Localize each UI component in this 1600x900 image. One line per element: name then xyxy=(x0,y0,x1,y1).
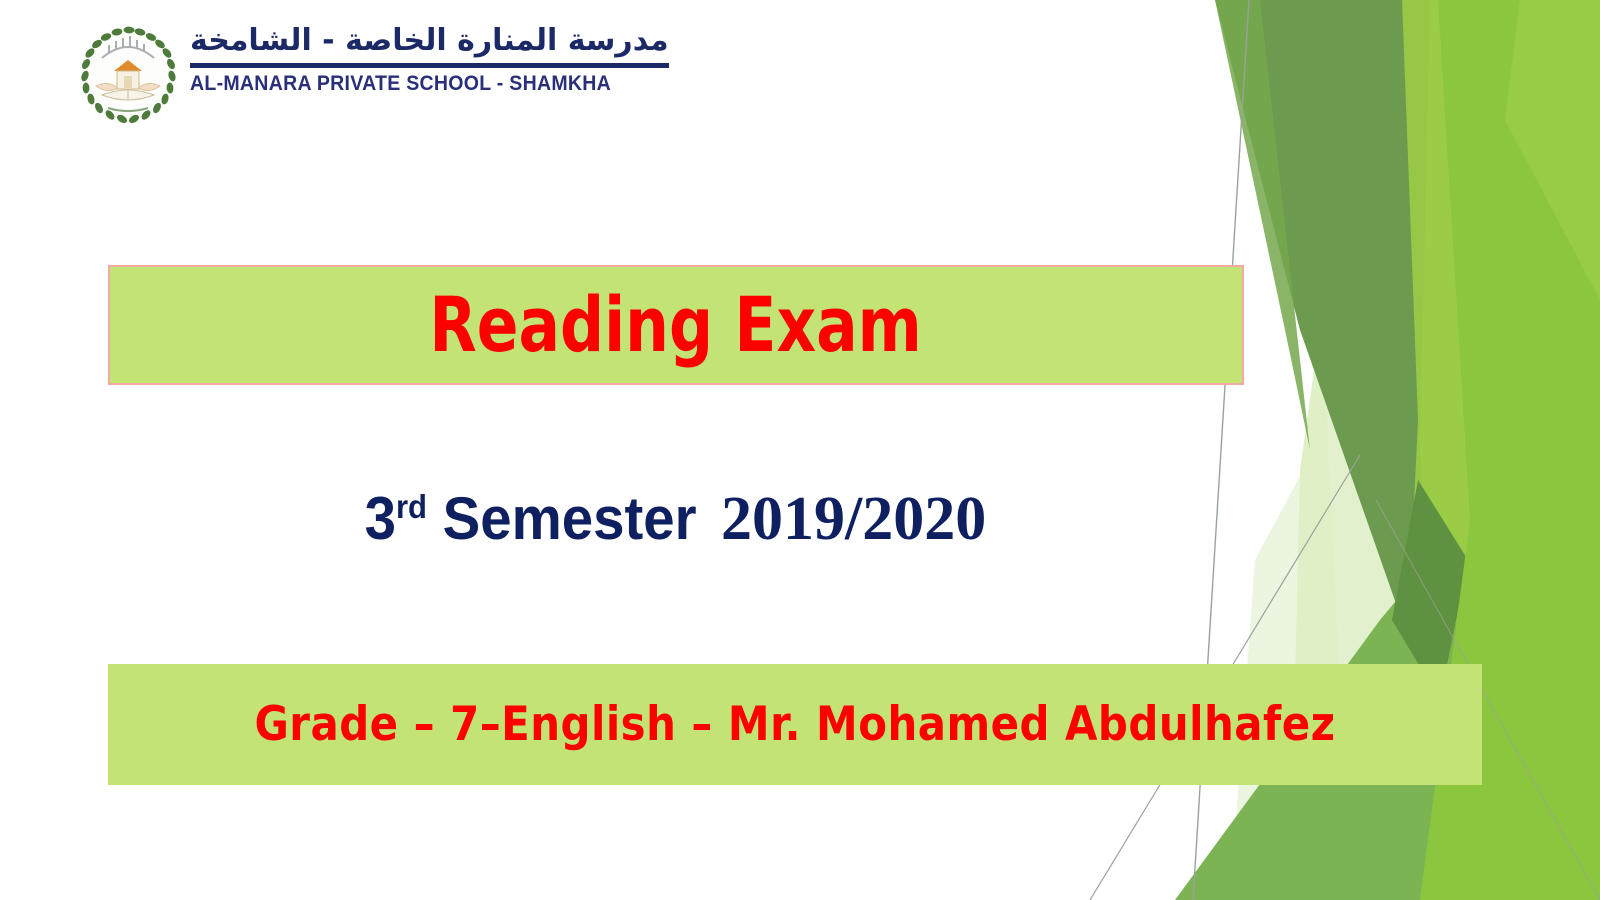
page-title: Reading Exam xyxy=(430,285,922,365)
semester-ordinal-suffix: rd xyxy=(396,488,427,525)
logo-english-name: AL-MANARA PRIVATE SCHOOL - SHAMKHA xyxy=(190,72,635,96)
logo-divider-rule xyxy=(190,63,669,68)
academic-year: 2019/2020 xyxy=(707,484,986,555)
slide-canvas: مدرسة المنارة الخاصة - الشامخة AL-MANARA… xyxy=(0,0,1600,900)
logo-text-block: مدرسة المنارة الخاصة - الشامخة AL-MANARA… xyxy=(184,18,669,96)
semester-label: 3rd Semester xyxy=(364,484,696,553)
title-banner: Reading Exam xyxy=(108,265,1244,385)
shape-light-tint-topright xyxy=(1505,0,1600,300)
semester-word: Semester xyxy=(442,485,696,552)
logo-arabic-name: مدرسة المنارة الخاصة - الشامخة xyxy=(190,22,669,60)
school-logo: مدرسة المنارة الخاصة - الشامخة AL-MANARA… xyxy=(72,18,542,130)
footer-banner: Grade – 7–English – Mr. Mohamed Abdulhaf… xyxy=(108,664,1482,785)
grade-subject-teacher-label: Grade – 7–English – Mr. Mohamed Abdulhaf… xyxy=(254,699,1335,751)
subtitle-line: 3rd Semester2019/2020 xyxy=(0,484,1340,555)
semester-ordinal-number: 3 xyxy=(364,485,395,552)
school-crest-icon xyxy=(72,18,184,130)
